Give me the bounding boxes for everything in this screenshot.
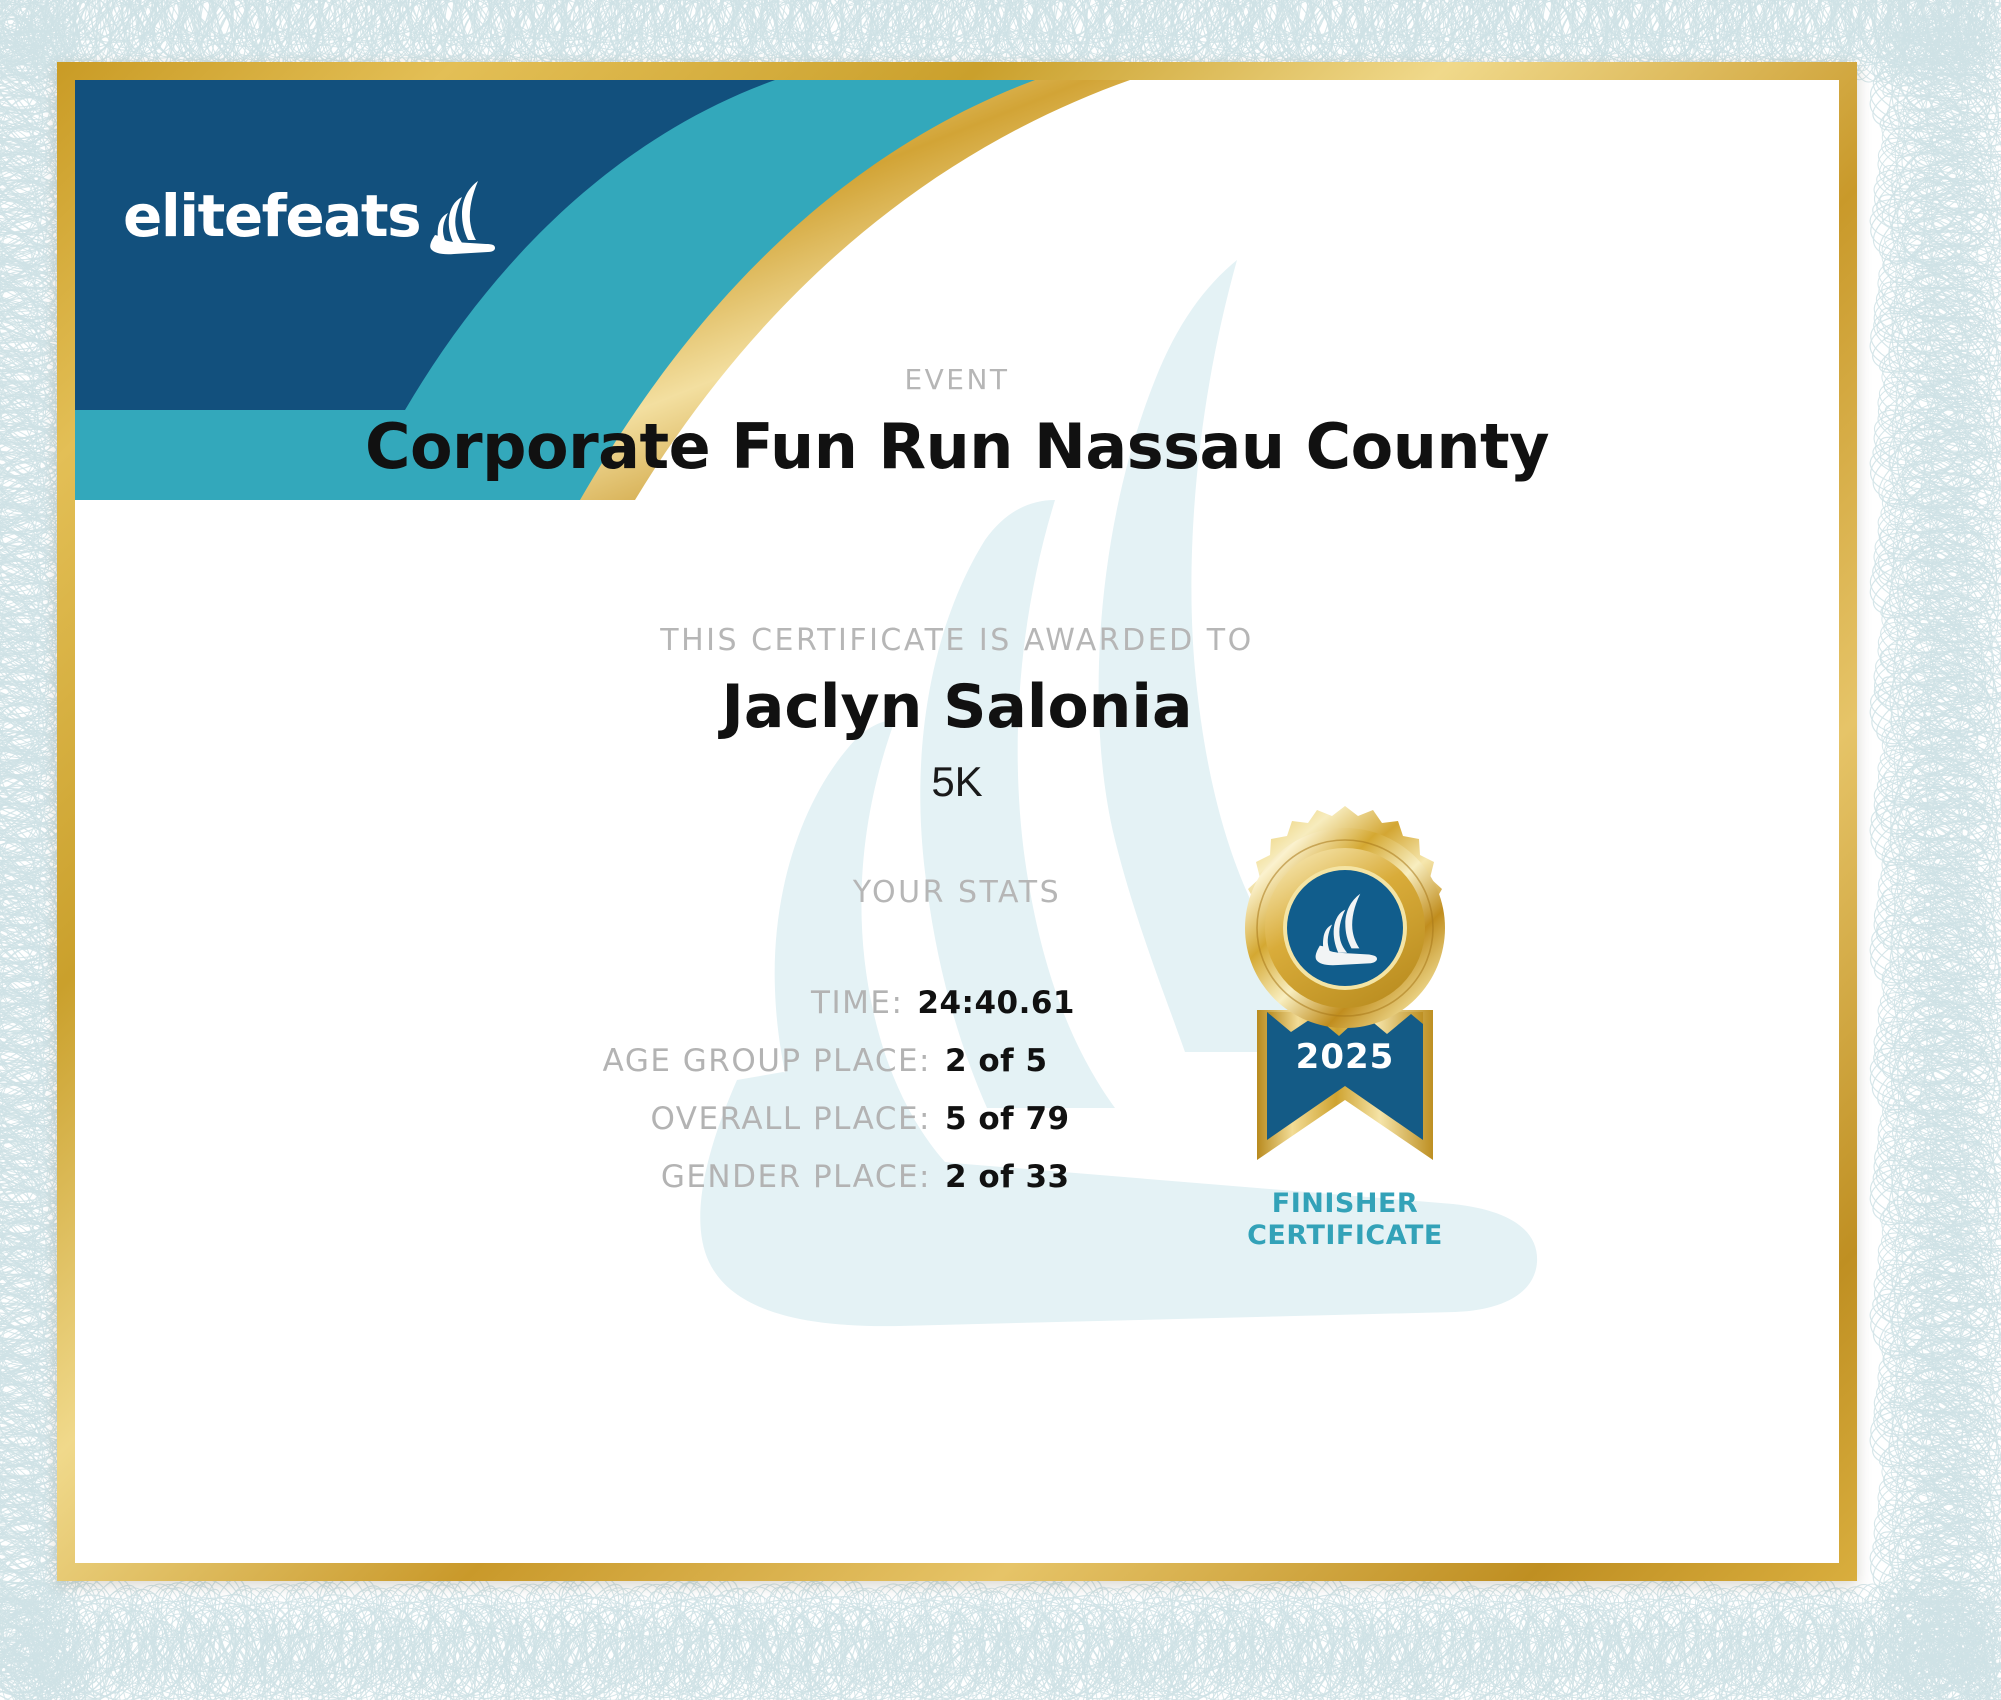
- stat-label: GENDER PLACE:: [661, 1159, 931, 1195]
- elitefeats-logo: elitefeats: [123, 175, 498, 257]
- stat-row: TIME:24:40.61: [75, 985, 1075, 1021]
- stat-label: AGE GROUP PLACE:: [603, 1043, 931, 1079]
- gold-medal-icon: 2025: [1205, 800, 1485, 1200]
- event-label: EVENT: [75, 363, 1839, 396]
- seal-year: 2025: [1296, 1037, 1395, 1077]
- event-name: Corporate Fun Run Nassau County: [75, 410, 1839, 483]
- certificate-content: EVENT Corporate Fun Run Nassau County TH…: [75, 80, 1839, 1563]
- certificate-page: elitefeats EVENT Corporate Fun Run Nassa…: [0, 0, 2001, 1700]
- gold-frame-border: elitefeats EVENT Corporate Fun Run Nassa…: [57, 62, 1857, 1581]
- stat-row: OVERALL PLACE:5 of 79: [75, 1101, 1075, 1137]
- stat-row: GENDER PLACE:2 of 33: [75, 1159, 1075, 1195]
- stat-value: 5 of 79: [945, 1101, 1075, 1137]
- your-stats-label: YOUR STATS: [75, 875, 1839, 910]
- stat-value: 24:40.61: [917, 985, 1075, 1021]
- finisher-seal: 2025 FINISHER CERTIFICATE: [1205, 800, 1485, 1270]
- awarded-to-label: THIS CERTIFICATE IS AWARDED TO: [75, 623, 1839, 658]
- certificate-canvas: elitefeats EVENT Corporate Fun Run Nassa…: [75, 80, 1839, 1563]
- seal-caption: FINISHER CERTIFICATE: [1205, 1188, 1485, 1252]
- race-distance: 5K: [75, 758, 1839, 806]
- stat-value: 2 of 5: [945, 1043, 1075, 1079]
- recipient-name: Jaclyn Salonia: [75, 672, 1839, 742]
- seal-caption-line2: CERTIFICATE: [1205, 1220, 1485, 1252]
- stats-table: TIME:24:40.61AGE GROUP PLACE:2 of 5OVERA…: [75, 985, 1075, 1217]
- stat-value: 2 of 33: [945, 1159, 1075, 1195]
- stat-label: TIME:: [811, 985, 903, 1021]
- ribbon-icon: [1257, 1010, 1433, 1160]
- seal-caption-line1: FINISHER: [1205, 1188, 1485, 1220]
- stat-row: AGE GROUP PLACE:2 of 5: [75, 1043, 1075, 1079]
- winged-foot-icon: [426, 179, 498, 257]
- logo-wordmark: elitefeats: [123, 187, 420, 245]
- stat-label: OVERALL PLACE:: [650, 1101, 931, 1137]
